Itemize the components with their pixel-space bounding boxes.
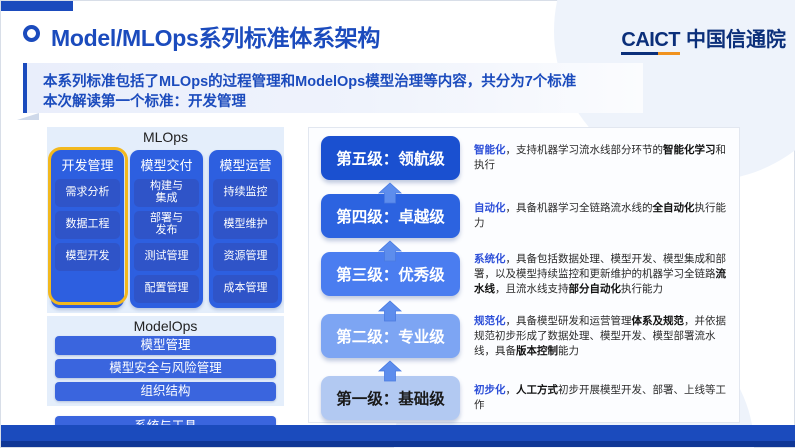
subtitle-line-1: 本系列标准包括了MLOps的过程管理和ModelOps模型治理等内容，共分为7个…	[43, 70, 576, 91]
maturity-desc-emphasis: 部分自动化	[569, 283, 622, 295]
maturity-keyword: 自动化	[474, 202, 506, 214]
subtitle-accent-bar	[23, 63, 27, 113]
mlops-chip-2-2[interactable]: 资源管理	[213, 243, 278, 271]
logo-chinese-name: 中国信通院	[686, 23, 786, 52]
maturity-level-box-1[interactable]: 第一级：基础级	[321, 376, 460, 420]
maturity-level-box-5[interactable]: 第五级：领航级	[321, 136, 460, 180]
maturity-desc-text: ，支持机器学习流水线部分环节的	[506, 144, 664, 156]
maturity-level-desc-4: 自动化，具备机器学习全链路流水线的全自动化执行能力	[460, 201, 729, 231]
mlops-column-title: 开发管理	[55, 153, 120, 175]
subtitle-band-tail	[17, 113, 39, 120]
mlops-chip-1-1[interactable]: 部署与 发布	[134, 211, 199, 239]
mlops-chip-0-0[interactable]: 需求分析	[55, 179, 120, 207]
mlops-chip-1-3[interactable]: 配置管理	[134, 275, 199, 303]
modelops-bar-0[interactable]: 模型管理	[55, 336, 276, 355]
subtitle-line-2: 本次解读第一个标准：开发管理	[43, 90, 246, 111]
maturity-desc-emphasis: 全自动化	[653, 202, 695, 214]
mlops-column-1: 模型交付构建与 集成部署与 发布测试管理配置管理	[130, 150, 203, 308]
modelops-bar-1[interactable]: 模型安全与风险管理	[55, 359, 276, 378]
progression-arrow-2	[378, 300, 402, 322]
maturity-desc-text: ，具备模型研发和运营管理	[506, 315, 632, 327]
mlops-column-title: 模型运营	[213, 153, 278, 175]
logo-abbreviation: CAICT	[621, 29, 680, 52]
mlops-chip-2-3[interactable]: 成本管理	[213, 275, 278, 303]
progression-arrow-0	[378, 182, 402, 204]
maturity-desc-text: 能力	[558, 345, 579, 357]
maturity-desc-text: ，具备机器学习全链路流水线的	[506, 202, 653, 214]
maturity-keyword: 智能化	[474, 144, 506, 156]
modelops-bar-2[interactable]: 组织结构	[55, 382, 276, 401]
mlops-chip-1-0[interactable]: 构建与 集成	[134, 179, 199, 207]
maturity-desc-emphasis: 人工方式	[516, 384, 558, 396]
mlops-columns: 开发管理需求分析数据工程模型开发模型交付构建与 集成部署与 发布测试管理配置管理…	[51, 150, 282, 308]
logo-underline-blue	[621, 52, 657, 55]
mlops-chip-2-1[interactable]: 模型维护	[213, 211, 278, 239]
mlops-chip-0-2[interactable]: 模型开发	[55, 243, 120, 271]
maturity-level-desc-3: 系统化，具备包括数据处理、模型开发、模型集成和部署，以及模型持续监控和更新维护的…	[460, 252, 729, 297]
ring-bullet-icon	[23, 25, 40, 42]
progression-arrow-3	[378, 360, 402, 382]
page-title: Model/MLOps系列标准体系架构	[51, 19, 380, 53]
maturity-desc-emphasis: 版本控制	[516, 345, 558, 357]
maturity-desc-text: ，具备包括数据处理、模型开发、模型集成和部署，以及模型持续监控和更新维护的机器学…	[474, 253, 726, 280]
footer-band	[1, 425, 795, 447]
progression-arrow-1	[378, 240, 402, 262]
logo-abbr-text: CAICT	[621, 29, 680, 52]
maturity-level-desc-5: 智能化，支持机器学习流水线部分环节的智能化学习和执行	[460, 143, 729, 173]
corner-accent-bar	[1, 1, 73, 11]
maturity-level-row-5: 第五级：领航级智能化，支持机器学习流水线部分环节的智能化学习和执行	[321, 136, 729, 180]
maturity-level-desc-2: 规范化，具备模型研发和运营管理体系及规范，并依据规范初步形成了数据处理、模型开发…	[460, 314, 729, 359]
slide-header: Model/MLOps系列标准体系架构 CAICT 中国信通院	[1, 11, 795, 59]
mlops-column-2: 模型运营持续监控模型维护资源管理成本管理	[209, 150, 282, 308]
modelops-panel: ModelOps 模型管理 模型安全与风险管理 组织结构	[47, 316, 284, 406]
maturity-desc-emphasis: 智能化学习	[663, 144, 716, 156]
maturity-keyword: 规范化	[474, 315, 506, 327]
maturity-desc-emphasis: 体系及规范	[632, 315, 685, 327]
maturity-ladder-card: 第五级：领航级智能化，支持机器学习流水线部分环节的智能化学习和执行第四级：卓越级…	[308, 127, 740, 423]
mlops-chip-0-1[interactable]: 数据工程	[55, 211, 120, 239]
maturity-desc-text: ，且流水线支持	[495, 283, 569, 295]
maturity-level-desc-1: 初步化，人工方式初步开展模型开发、部署、上线等工作	[460, 383, 729, 413]
maturity-desc-text: ，	[506, 384, 517, 396]
mlops-column-title: 模型交付	[134, 153, 199, 175]
maturity-desc-text: 执行能力	[621, 283, 663, 295]
caict-logo: CAICT 中国信通院	[621, 23, 786, 52]
logo-underline-orange	[658, 52, 680, 55]
subtitle-band: 本系列标准包括了MLOps的过程管理和ModelOps模型治理等内容，共分为7个…	[23, 63, 643, 113]
maturity-keyword: 初步化	[474, 384, 506, 396]
mlops-chip-2-0[interactable]: 持续监控	[213, 179, 278, 207]
mlops-heading: MLOps	[47, 127, 284, 145]
maturity-level-row-1: 第一级：基础级初步化，人工方式初步开展模型开发、部署、上线等工作	[321, 376, 729, 420]
mlops-column-0: 开发管理需求分析数据工程模型开发	[51, 150, 124, 308]
mlops-chip-1-2[interactable]: 测试管理	[134, 243, 199, 271]
modelops-heading: ModelOps	[47, 316, 284, 334]
logo-underline	[621, 52, 680, 55]
maturity-keyword: 系统化	[474, 253, 506, 265]
slide-root: Model/MLOps系列标准体系架构 CAICT 中国信通院 本系列标准包括了…	[0, 0, 795, 448]
mlops-panel: MLOps 开发管理需求分析数据工程模型开发模型交付构建与 集成部署与 发布测试…	[47, 127, 284, 313]
